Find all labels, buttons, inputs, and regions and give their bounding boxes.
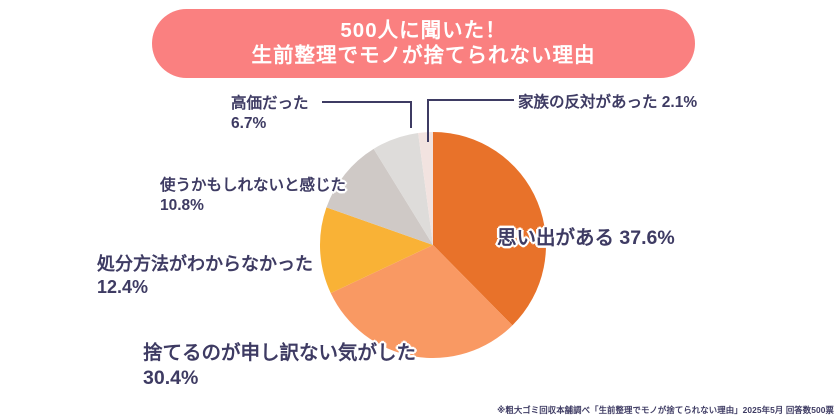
slice-label-guilty-text: 捨てるのが申し訳ない気がした bbox=[143, 341, 416, 366]
infographic-root: 500人に聞いた！ 生前整理でモノが捨てられない理由 思い出がある 37.6% … bbox=[0, 0, 840, 420]
slice-label-guilty-pct: 30.4% bbox=[143, 366, 416, 391]
slice-label-mightuse: 使うかもしれないと感じた 10.8% bbox=[160, 176, 346, 216]
pie-chart-svg bbox=[0, 0, 840, 420]
slice-label-memories: 思い出がある 37.6% bbox=[497, 226, 675, 251]
slice-label-family: 家族の反対があった 2.1% bbox=[518, 93, 697, 113]
slice-label-expensive: 高価だった 6.7% bbox=[231, 94, 309, 134]
source-footnote: ※粗大ゴミ回収本舗調べ「生前整理でモノが捨てられない理由」2025年5月 回答数… bbox=[497, 404, 834, 416]
slice-label-mightuse-pct: 10.8% bbox=[160, 196, 346, 216]
slice-label-disposal-text: 処分方法がわからなかった bbox=[97, 253, 313, 276]
slice-label-expensive-text: 高価だった bbox=[231, 94, 309, 114]
slice-label-memories-text: 思い出がある 37.6% bbox=[497, 226, 675, 251]
leader-line-expensive bbox=[322, 102, 411, 128]
slice-label-guilty: 捨てるのが申し訳ない気がした 30.4% bbox=[143, 341, 416, 392]
slice-label-disposal-pct: 12.4% bbox=[97, 276, 313, 299]
pie-chart bbox=[0, 0, 840, 420]
slice-label-disposal: 処分方法がわからなかった 12.4% bbox=[97, 253, 313, 300]
slice-label-expensive-pct: 6.7% bbox=[231, 114, 309, 134]
slice-label-mightuse-text: 使うかもしれないと感じた bbox=[160, 176, 346, 196]
slice-label-family-text: 家族の反対があった 2.1% bbox=[518, 93, 697, 113]
